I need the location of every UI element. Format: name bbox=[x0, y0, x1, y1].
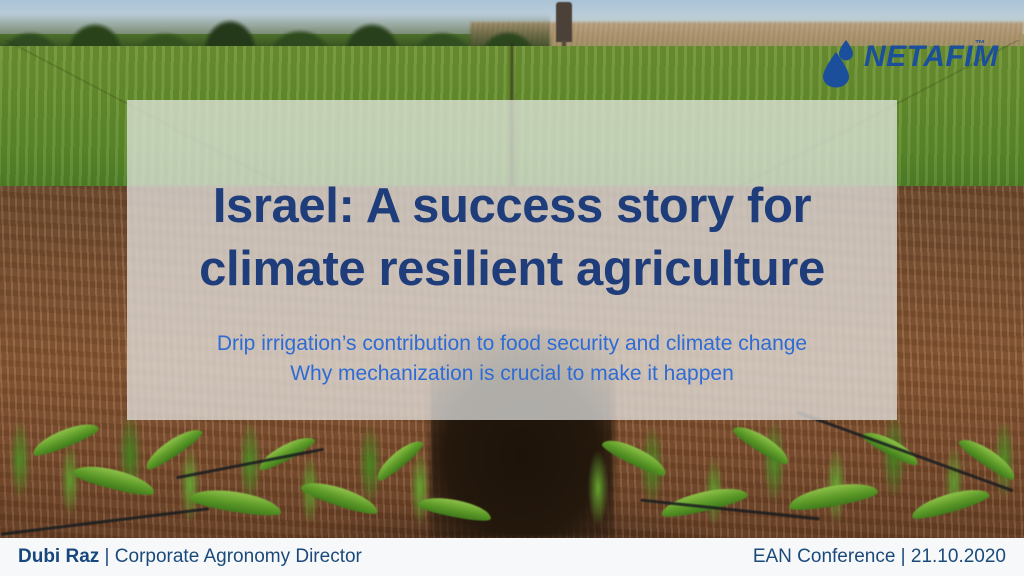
water-tower-icon bbox=[556, 2, 572, 42]
trademark-symbol: ™ bbox=[975, 40, 985, 50]
presentation-slide: Israel: A success story for climate resi… bbox=[0, 0, 1024, 576]
subtitle-line-2: Why mechanization is crucial to make it … bbox=[290, 362, 734, 385]
presenter-role: | Corporate Agronomy Director bbox=[99, 546, 362, 567]
netafim-logo: NETAFIM ™ bbox=[822, 38, 994, 90]
event-info: EAN Conference | 21.10.2020 bbox=[753, 546, 1006, 568]
title-line-2: climate resilient agriculture bbox=[199, 242, 825, 296]
presenter-info: Dubi Raz | Corporate Agronomy Director bbox=[18, 546, 362, 568]
presenter-name: Dubi Raz bbox=[18, 546, 99, 567]
page-title: Israel: A success story for climate resi… bbox=[127, 175, 897, 300]
slide-footer: Dubi Raz | Corporate Agronomy Director E… bbox=[0, 538, 1024, 576]
page-subtitle: Drip irrigation’s contribution to food s… bbox=[127, 329, 897, 389]
title-line-1: Israel: A success story for bbox=[213, 179, 811, 233]
subtitle-line-1: Drip irrigation’s contribution to food s… bbox=[217, 332, 807, 355]
water-droplet-icon bbox=[822, 38, 862, 88]
